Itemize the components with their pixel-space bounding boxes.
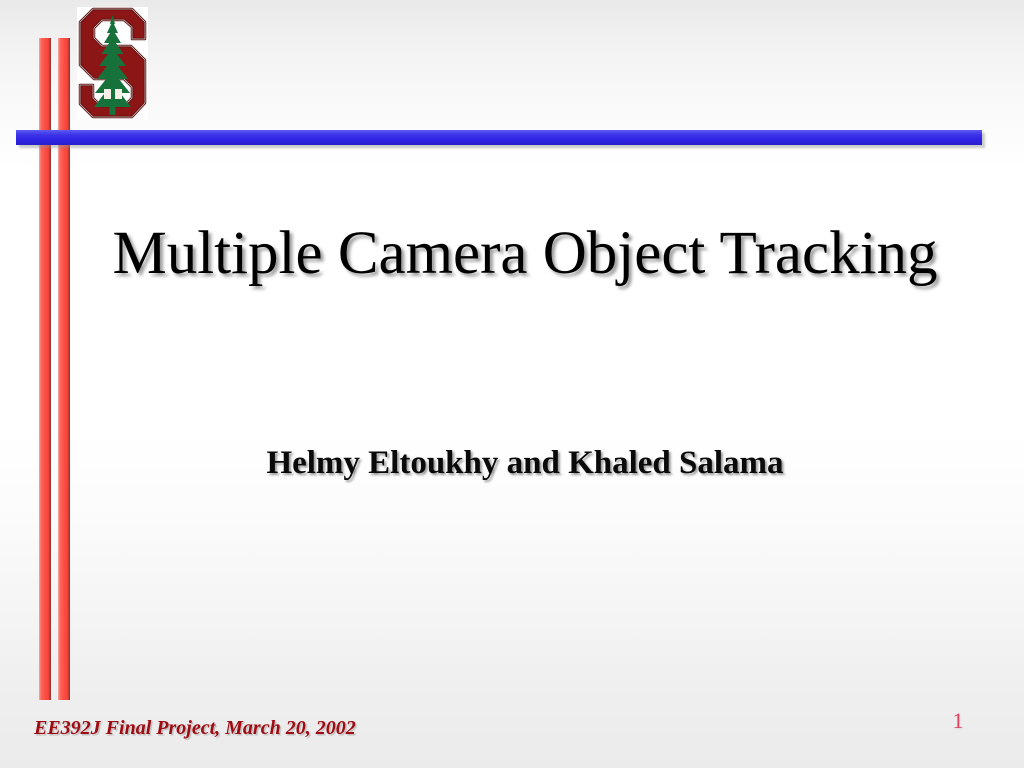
stanford-block-s-tree-logo <box>77 7 148 119</box>
presentation-slide: Multiple Camera Object Tracking Helmy El… <box>0 0 1024 768</box>
slide-title: Multiple Camera Object Tracking <box>60 222 990 286</box>
stanford-logo-icon <box>77 7 148 119</box>
slide-authors: Helmy Eltoukhy and Khaled Salama <box>60 445 990 482</box>
slide-footer: EE392J Final Project, March 20, 2002 <box>34 717 356 740</box>
slide-page-number: 1 <box>930 708 986 734</box>
blue-horizontal-rule <box>16 130 982 145</box>
